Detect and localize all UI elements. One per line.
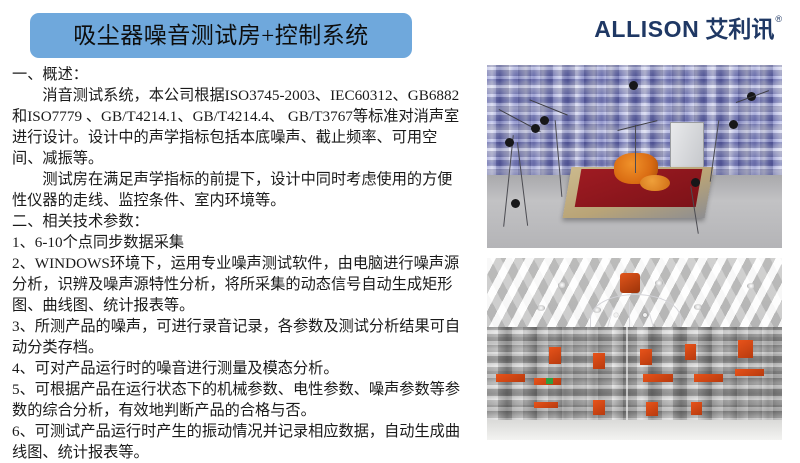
orange-wedge-accent	[643, 374, 673, 381]
microphone-capsule	[505, 138, 514, 147]
wall-corner-edge	[626, 327, 628, 422]
ceiling-spotlight	[694, 304, 702, 310]
mic-stand	[635, 125, 636, 173]
logo-latin-text: ALLISON	[594, 16, 699, 42]
orange-wedge-accent	[738, 340, 753, 358]
orange-wedge-accent	[691, 402, 703, 415]
microphone-capsule	[511, 199, 520, 208]
photo-anechoic-chamber-vacuum-test	[487, 65, 782, 248]
microphone-capsule	[729, 120, 738, 129]
tech-param-item-3: 3、所测产品的噪声，可进行录音记录，各参数及测试分析结果可自动分类存档。	[12, 316, 464, 358]
microphone-capsule	[691, 178, 700, 187]
tech-param-item-1: 1、6-10个点同步数据采集	[12, 232, 464, 253]
array-microphone	[643, 313, 647, 317]
emergency-exit-sign-icon	[546, 378, 553, 384]
ceiling-spotlight	[558, 282, 566, 288]
orange-wedge-accent	[549, 347, 561, 363]
section-one-heading: 一、概述：	[12, 64, 464, 85]
orange-wedge-accent	[694, 374, 724, 381]
test-appliance-unit	[670, 122, 704, 168]
orange-wedge-accent	[735, 369, 765, 376]
section-two-heading: 二、相关技术参数：	[12, 211, 464, 232]
chamber-floor	[487, 420, 782, 440]
orange-wedge-accent	[593, 400, 605, 415]
tech-param-item-6: 6、可测试产品运行时产生的振动情况并记录相应数据，自动生成曲线图、统计报表等。	[12, 421, 464, 463]
section-one-paragraph-2: 测试房在满足声学指标的前提下，设计中同时考虑使用的方便性仪器的走线、监控条件、室…	[12, 169, 464, 211]
orange-wedge-accent	[685, 344, 697, 360]
tech-param-item-2: 2、WINDOWS环境下，运用专业噪声测试软件，由电脑进行噪声源分析，识辨及噪声…	[12, 253, 464, 316]
orange-wedge-accent	[534, 402, 558, 408]
title-banner: 吸尘器噪音测试房+控制系统	[30, 13, 412, 58]
logo-cjk-text: 艾利讯	[705, 16, 774, 42]
orange-wedge-accent	[640, 349, 652, 365]
orange-wedge-accent	[496, 374, 526, 381]
microphone-capsule	[531, 124, 540, 133]
orange-wedge-accent	[646, 402, 658, 417]
description-text-block: 一、概述： 消音测试系统，本公司根据ISO3745-2003、IEC60312、…	[12, 64, 464, 463]
array-microphone	[614, 313, 618, 317]
orange-wedge-accent	[593, 353, 605, 369]
page-title: 吸尘器噪音测试房+控制系统	[73, 24, 368, 47]
ceiling-mounted-source	[620, 273, 641, 293]
page-header: 吸尘器噪音测试房+控制系统 ALLISON 艾利讯 ®	[0, 0, 800, 62]
company-logo: ALLISON 艾利讯 ®	[594, 16, 782, 44]
registered-trademark-icon: ®	[775, 15, 782, 24]
tech-param-item-5: 5、可根据产品在运行状态下的机械参数、电性参数、噪声参数等参数的综合分析，有效地…	[12, 379, 464, 421]
photo-semi-anechoic-chamber-interior	[487, 258, 782, 440]
section-one-paragraph-1: 消音测试系统，本公司根据ISO3745-2003、IEC60312、GB6882…	[12, 85, 464, 169]
vacuum-cleaner-head	[640, 175, 670, 191]
ceiling-spotlight	[655, 280, 663, 286]
tech-param-item-4: 4、可对产品运行时的噪音进行测量及模态分析。	[12, 358, 464, 379]
